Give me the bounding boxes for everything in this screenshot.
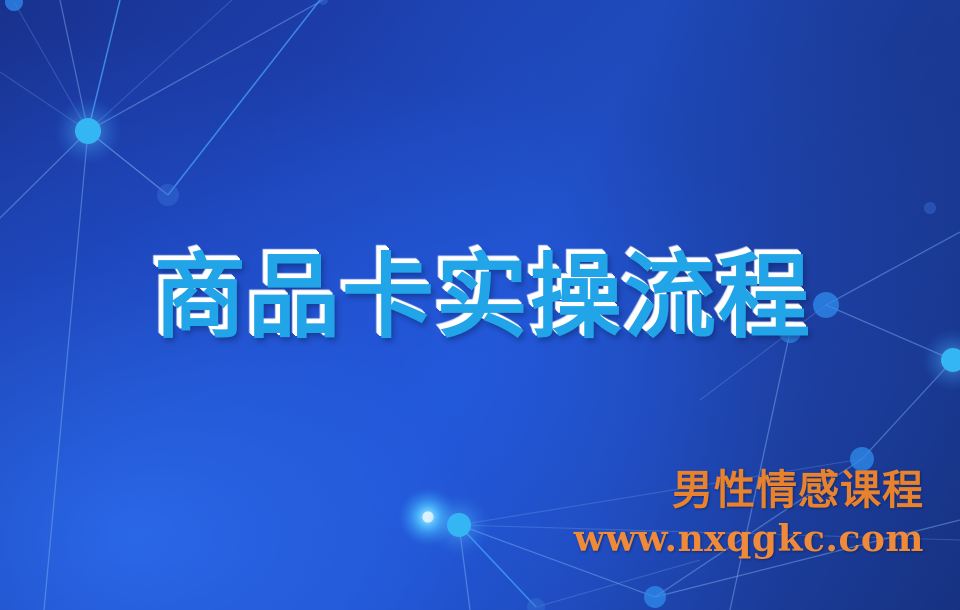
network-link	[0, 72, 88, 131]
network-node	[75, 118, 101, 144]
network-node	[924, 202, 936, 214]
network-link	[88, 0, 323, 131]
network-node	[941, 348, 960, 372]
title-block: 商品卡实操流程	[0, 248, 960, 347]
network-node	[644, 586, 666, 608]
watermark-url: www.nxqgkc.com	[574, 521, 924, 557]
watermark-course-name: 男性情感课程	[574, 470, 924, 511]
watermark-block: 男性情感课程 www.nxqgkc.com	[574, 470, 924, 557]
network-link	[88, 0, 120, 131]
network-node	[447, 513, 471, 537]
network-link	[536, 560, 700, 607]
network-link	[0, 131, 88, 218]
network-node	[5, 0, 23, 11]
network-link	[459, 525, 536, 607]
network-link	[88, 0, 232, 131]
network-link	[862, 360, 953, 459]
network-node	[422, 511, 433, 522]
network-link	[88, 131, 168, 195]
network-node	[527, 598, 545, 610]
network-link	[168, 0, 320, 195]
network-link	[60, 0, 88, 131]
network-link	[44, 131, 88, 610]
network-link	[88, 131, 168, 195]
slide-canvas: 商品卡实操流程 男性情感课程 www.nxqgkc.com	[0, 0, 960, 610]
page-title: 商品卡实操流程	[148, 248, 812, 347]
network-link	[459, 525, 470, 610]
network-node-glow	[428, 494, 490, 556]
network-node-glow	[399, 488, 458, 547]
network-node	[157, 184, 179, 206]
network-link	[14, 2, 88, 131]
network-node	[318, 0, 328, 5]
network-node-glow	[54, 97, 122, 165]
